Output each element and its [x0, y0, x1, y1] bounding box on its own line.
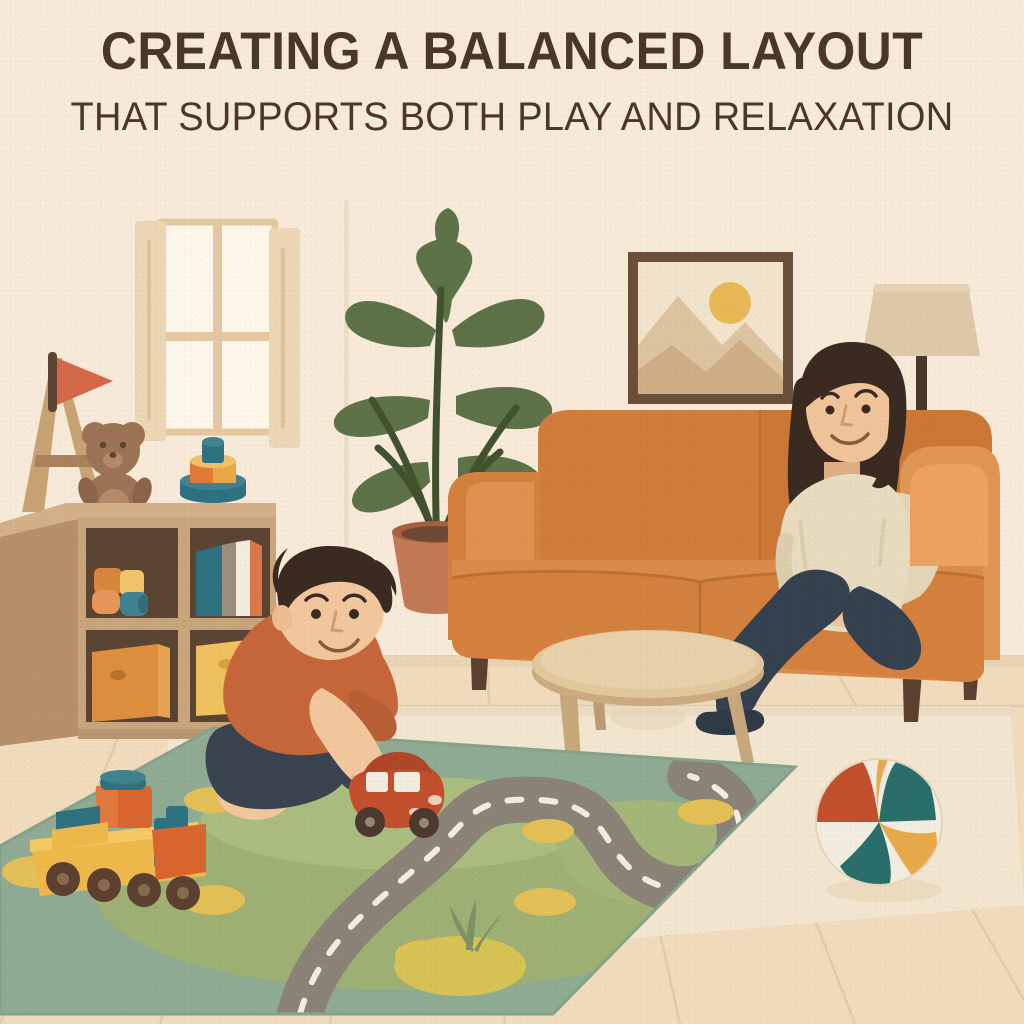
car-window — [366, 772, 388, 792]
car-headlight — [428, 795, 442, 805]
books — [196, 540, 262, 616]
illustration-scene: CREATING A BALANCED LAYOUT THAT SUPPORTS… — [0, 0, 1024, 1024]
storage-bins — [92, 644, 170, 722]
framed-landscape-art — [628, 252, 793, 404]
window — [135, 221, 300, 448]
scene-svg — [0, 0, 1024, 1024]
page-title: CREATING A BALANCED LAYOUT — [31, 24, 994, 80]
sun-icon — [709, 282, 751, 324]
page-subtitle: THAT SUPPORTS BOTH PLAY AND RELAXATION — [26, 96, 999, 138]
car-window — [394, 772, 420, 792]
